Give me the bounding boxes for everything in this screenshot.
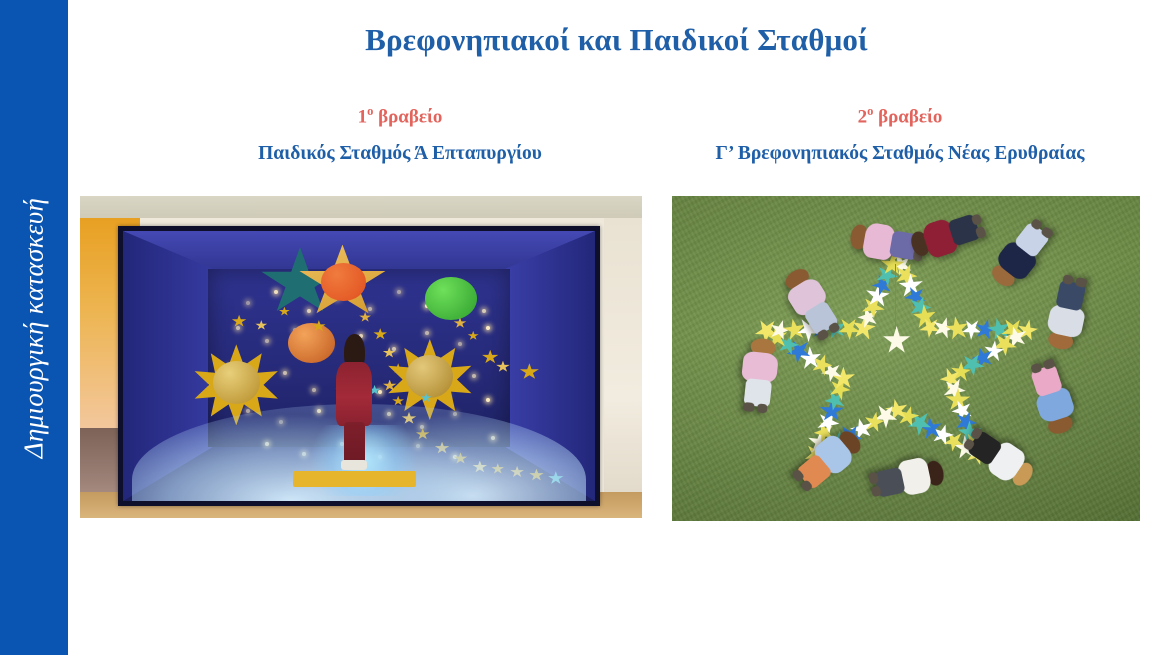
- fairy-light: [265, 339, 269, 343]
- diorama-room-background: [80, 196, 642, 518]
- child-shoes: [341, 460, 367, 470]
- child-lying: [720, 330, 796, 416]
- prize-word-second: βραβείο: [873, 106, 942, 127]
- slide-canvas: Δημιουργική κατασκευή Βρεφονηπιακοί και …: [0, 0, 1165, 655]
- photo-children-star-on-grass: [672, 196, 1140, 521]
- child-legs: [344, 422, 365, 464]
- place-name-first: Παιδικός Σταθμός Ά Επταπυργίου: [120, 142, 680, 166]
- prize-number-second: 2: [858, 106, 868, 127]
- child-shoe: [1075, 277, 1087, 288]
- column-heading-left: 1ο βραβείο Παιδικός Σταθμός Ά Επταπυργίο…: [120, 104, 680, 166]
- diorama-box: [118, 226, 600, 506]
- side-banner-label: Δημιουργική κατασκευή: [19, 197, 50, 457]
- side-banner: Δημιουργική κατασκευή: [0, 0, 68, 655]
- child-dress: [336, 362, 372, 427]
- sun-left-ball: [213, 361, 260, 404]
- place-name-second: Γ’ Βρεφονηπιακός Σταθμός Νέας Ερυθραίας: [640, 142, 1160, 166]
- fairy-light: [425, 331, 429, 335]
- child-shoe: [975, 226, 986, 238]
- page-title: Βρεφονηπιακοί και Παιδικοί Σταθμοί: [68, 22, 1165, 58]
- center-string: [895, 264, 897, 329]
- prize-label-first: 1ο βραβείο: [120, 104, 680, 129]
- child-shoe: [868, 472, 879, 484]
- child-shoe: [1062, 274, 1074, 285]
- fairy-light: [312, 388, 316, 392]
- prize-number-first: 1: [358, 106, 368, 127]
- fairy-light: [236, 326, 240, 330]
- fairy-light: [246, 301, 250, 305]
- fairy-light: [458, 342, 462, 346]
- child-podium: [293, 471, 416, 487]
- top-star-badge: [321, 263, 366, 301]
- prize-label-second: 2ο βραβείο: [640, 104, 1160, 129]
- child-shoe: [743, 402, 754, 412]
- diorama-box-interior: [123, 231, 595, 501]
- room-ceiling: [80, 196, 642, 218]
- photo-diorama-night-sky-box: [80, 196, 642, 518]
- child-shoe: [971, 213, 982, 225]
- child-shoe: [757, 403, 768, 413]
- child-shoe: [871, 485, 882, 497]
- column-heading-right: 2ο βραβείο Γ’ Βρεφονηπιακός Σταθμός Νέας…: [640, 104, 1160, 166]
- planet-green: [425, 277, 477, 320]
- room-wall-right: [604, 218, 642, 518]
- prize-word-first: βραβείο: [373, 106, 442, 127]
- child-figure: [331, 334, 378, 474]
